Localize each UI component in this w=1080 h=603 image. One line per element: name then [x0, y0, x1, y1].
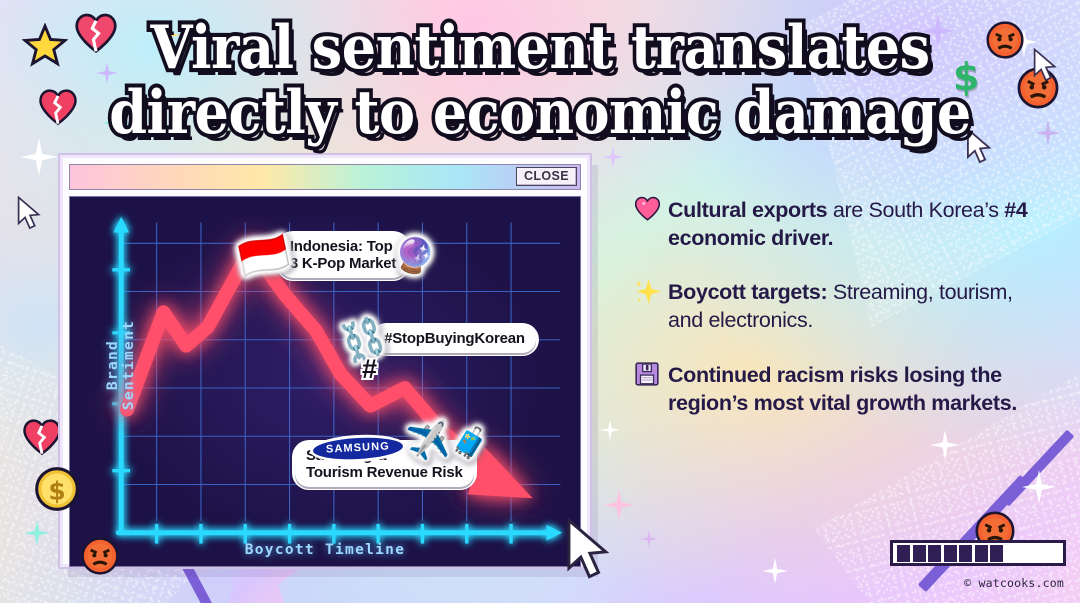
dollar-sign-icon: $	[953, 58, 979, 96]
airplane-icon: ✈️	[405, 422, 452, 462]
floppy-disk-icon	[634, 361, 668, 417]
key-points-list: Cultural exports are South Korea’s #4 ec…	[634, 196, 1046, 443]
list-item-text: Boycott targets: Streaming, tourism, and…	[668, 278, 1046, 334]
list-item-text: Cultural exports are South Korea’s #4 ec…	[668, 196, 1046, 252]
list-item: Cultural exports are South Korea’s #4 ec…	[634, 196, 1046, 252]
loading-bar-segment	[990, 545, 1003, 562]
close-button[interactable]: CLOSE	[516, 167, 577, 186]
loading-bar-segment	[959, 545, 972, 562]
annotation-indonesia-label: Indonesia: Top 3 K-Pop Market	[279, 234, 407, 278]
sparkle-icon	[1010, 28, 1038, 56]
cursor-arrow-icon	[965, 128, 993, 169]
annotation-hashtag[interactable]: ⛓️ # #StopBuyingKorean	[340, 321, 536, 358]
sparkle-icon	[600, 420, 620, 440]
yellow-star-sticker	[22, 23, 68, 69]
angry-face-sticker	[1016, 66, 1060, 110]
loading-bar	[890, 540, 1066, 566]
page-title-line-1: Viral sentiment translates	[0, 18, 1080, 78]
page-title-line-2: directly to economic damage	[0, 83, 1080, 143]
page-title: Viral sentiment translates directly to e…	[0, 18, 1080, 135]
annotation-hashtag-label: #StopBuyingKorean	[373, 326, 536, 354]
loading-bar-segment	[897, 545, 910, 562]
broken-heart-sticker	[22, 418, 62, 456]
angry-face-sticker	[985, 20, 1025, 60]
list-item: Continued racism risks losing the region…	[634, 361, 1046, 417]
window-titlebar[interactable]: CLOSE	[69, 164, 581, 190]
chart-plot-area: Brand Sentiment Boycott Timeline 🇮🇩 Indo…	[69, 196, 581, 567]
annotation-samsung-tourism[interactable]: SAMSUNG ✈️ 🧳 Samsung & Tourism Revenue R…	[295, 425, 489, 487]
list-item: Boycott targets: Streaming, tourism, and…	[634, 278, 1046, 334]
sparkle-icon	[762, 558, 788, 584]
loading-bar-segment	[928, 545, 941, 562]
pixel-heart-icon	[634, 196, 668, 252]
loading-bar-segment	[944, 545, 957, 562]
sparkle-icon	[634, 278, 668, 334]
sparkle-icon	[1022, 470, 1056, 504]
sparkle-icon	[150, 20, 180, 50]
sparkle-icon	[20, 138, 58, 176]
suitcase-icon: 🧳	[451, 429, 488, 459]
loading-bar-segment	[975, 545, 988, 562]
sparkle-icon	[96, 62, 118, 84]
cursor-arrow-icon	[1032, 48, 1058, 87]
chart-window: CLOSE	[60, 155, 590, 567]
list-item-text: Continued racism risks losing the region…	[668, 361, 1046, 417]
credit-text: © watcooks.com	[964, 576, 1064, 590]
sparkle-icon	[102, 108, 132, 138]
annotation-indonesia[interactable]: 🇮🇩 Indonesia: Top 3 K-Pop Market 🔮	[239, 234, 426, 278]
sparkle-icon	[604, 490, 634, 520]
annotation-samsung-icons: SAMSUNG ✈️ 🧳	[313, 425, 489, 459]
loading-bar-segment	[913, 545, 926, 562]
samsung-logo-icon: SAMSUNG	[313, 436, 404, 462]
kpop-lightstick-icon: 🔮	[390, 234, 439, 277]
diagonal-stroke-1	[918, 475, 1028, 592]
cursor-arrow-icon	[16, 196, 42, 235]
sparkle-icon	[640, 530, 658, 548]
broken-heart-sticker	[38, 88, 78, 126]
hashtag-icon: #	[362, 354, 377, 385]
sparkle-icon	[602, 146, 624, 168]
broken-heart-sticker	[74, 12, 118, 54]
sparkle-icon	[921, 14, 955, 48]
sparkle-icon	[1035, 120, 1061, 146]
indonesia-flag-icon: 🇮🇩	[235, 231, 292, 280]
sparkle-icon	[24, 520, 50, 546]
